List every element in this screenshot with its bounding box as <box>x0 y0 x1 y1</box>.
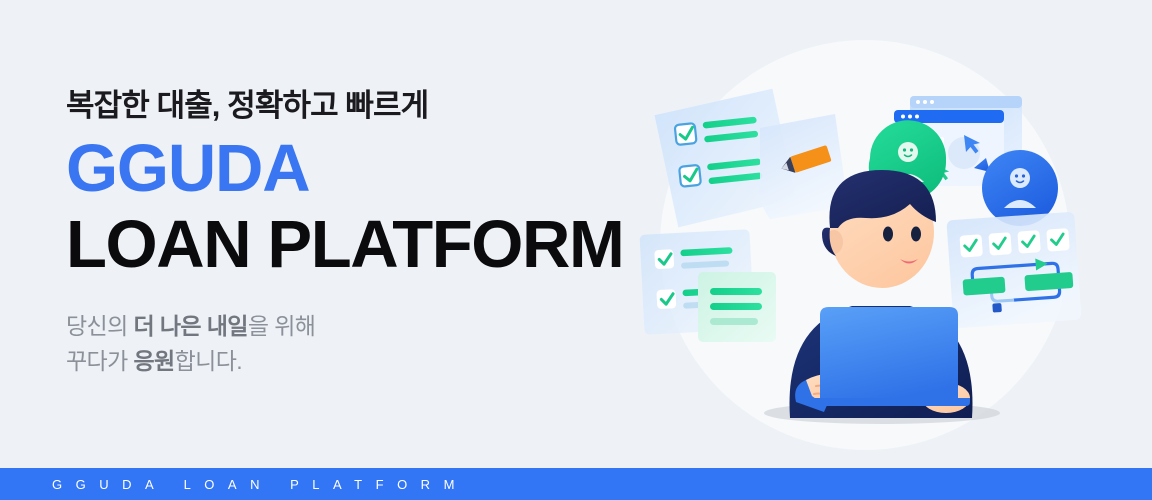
bottom-ticker-bar: GGUDA LOAN PLATFORM <box>0 468 1152 500</box>
tagline-line2-strong: 응원 <box>133 348 174 374</box>
hero-illustration <box>620 10 1120 470</box>
tagline-line2-lead: 꾸다가 <box>66 348 133 374</box>
tagline-line-2: 꾸다가 응원합니다. <box>66 344 626 379</box>
laptop <box>808 307 970 406</box>
hero-tagline: 당신의 더 나은 내일을 위해 꾸다가 응원합니다. <box>66 309 626 379</box>
hero-eyebrow: 복잡한 대출, 정확하고 빠르게 <box>66 86 626 126</box>
hero-banner: 복잡한 대출, 정확하고 빠르게 GGUDA LOAN PLATFORM 당신의… <box>0 0 1152 500</box>
brand-title: GGUDA <box>66 135 626 203</box>
product-title: LOAN PLATFORM <box>66 211 626 279</box>
tagline-line2-tail: 합니다. <box>175 348 242 374</box>
ticker-text: GGUDA LOAN PLATFORM <box>0 477 468 492</box>
green-note-card <box>698 272 776 342</box>
tagline-line1-tail: 을 위해 <box>248 313 315 339</box>
tagline-line1-strong: 더 나은 내일 <box>133 313 247 339</box>
tagline-line1-lead: 당신의 <box>66 313 133 339</box>
approval-flow-card <box>946 212 1081 329</box>
tagline-line-1: 당신의 더 나은 내일을 위해 <box>66 309 626 344</box>
hero-copy-block: 복잡한 대출, 정확하고 빠르게 GGUDA LOAN PLATFORM 당신의… <box>66 86 626 379</box>
